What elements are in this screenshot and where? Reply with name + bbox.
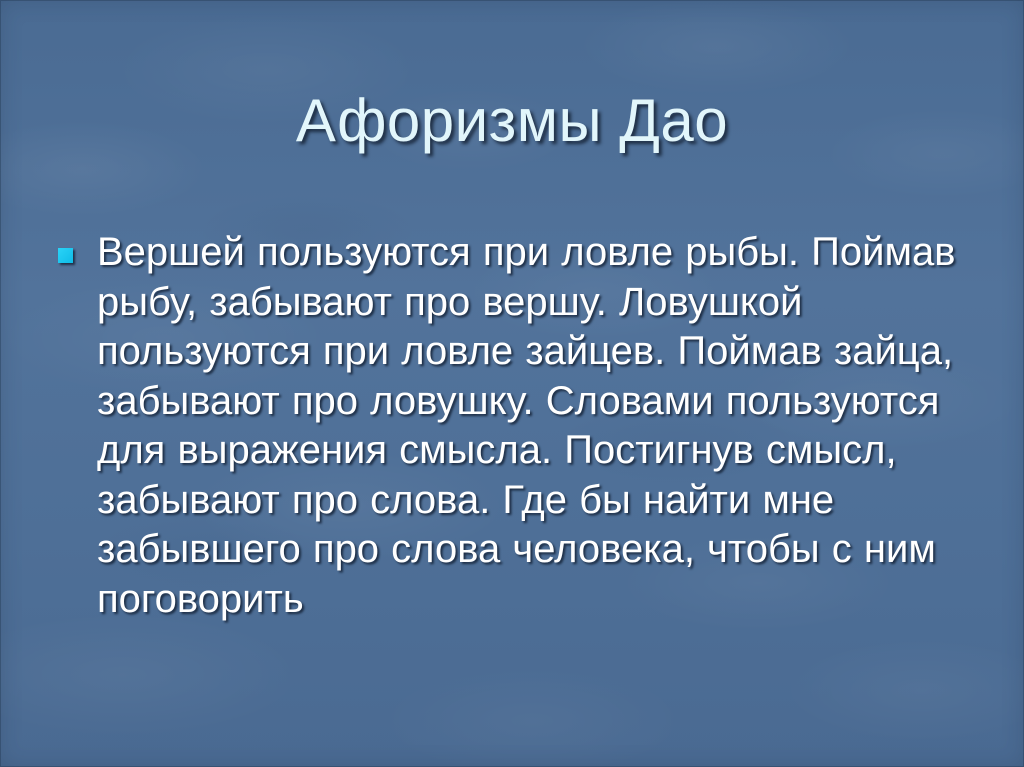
presentation-slide: Афоризмы Дао Вершей пользуются при ловле…	[0, 0, 1024, 767]
slide-body: Вершей пользуются при ловле рыбы. Поймав…	[58, 228, 974, 624]
square-bullet-icon	[58, 248, 73, 263]
bullet-paragraph: Вершей пользуются при ловле рыбы. Поймав…	[97, 228, 974, 624]
slide-title: Афоризмы Дао	[0, 88, 1024, 154]
